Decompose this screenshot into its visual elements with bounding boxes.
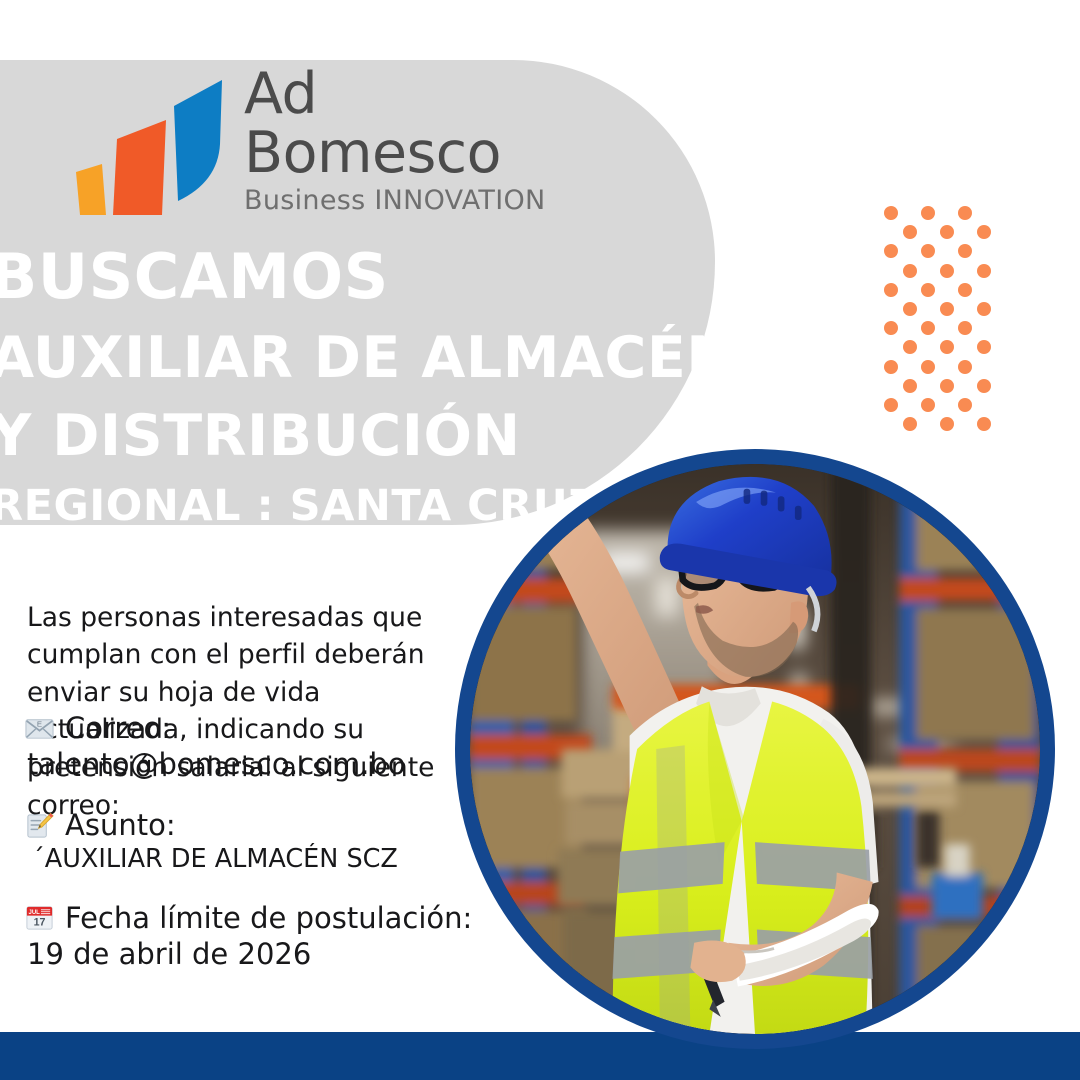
decorative-dot [921, 283, 935, 297]
memo-pencil-icon [24, 810, 55, 841]
decorative-dot [958, 321, 972, 335]
decorative-dot [903, 340, 917, 354]
decorative-dot [921, 398, 935, 412]
decorative-dot [921, 321, 935, 335]
headline-line-position: AUXILIAR DE ALMACÉN [0, 330, 735, 387]
orange-dot-pattern [884, 206, 1014, 456]
worker-photo [470, 464, 1040, 1034]
decorative-dot [884, 206, 898, 220]
decorative-dot [884, 398, 898, 412]
decorative-dot [977, 302, 991, 316]
email-envelope-icon: E [24, 713, 55, 744]
contact-subject-group: Asunto: ´AUXILIAR DE ALMACÉN SCZ [24, 809, 494, 875]
decorative-dot [940, 264, 954, 278]
logo-tagline: Business INNOVATION [244, 187, 546, 214]
worker-photo-circle [455, 449, 1055, 1049]
decorative-dot [921, 206, 935, 220]
decorative-dot [958, 398, 972, 412]
decorative-dot [903, 379, 917, 393]
contact-subject-value: ´AUXILIAR DE ALMACÉN SCZ [24, 845, 494, 874]
decorative-dot [977, 340, 991, 354]
decorative-dot [958, 206, 972, 220]
job-posting-poster: Ad Bomesco Business INNOVATION BUSCAMOS … [0, 0, 1080, 1080]
decorative-dot [977, 264, 991, 278]
decorative-dot [958, 283, 972, 297]
svg-text:E: E [37, 719, 42, 728]
decorative-dot [958, 244, 972, 258]
decorative-dot [977, 379, 991, 393]
decorative-dot [940, 340, 954, 354]
decorative-dot [903, 417, 917, 431]
contact-email-value[interactable]: talento@bomesco.com.bo [24, 748, 494, 781]
logo-bars-icon [62, 72, 232, 222]
bottom-blue-bar [0, 1032, 1080, 1080]
logo-text-line-1: Ad [244, 66, 546, 123]
decorative-dot [921, 244, 935, 258]
decorative-dot [884, 321, 898, 335]
decorative-dot [903, 302, 917, 316]
decorative-dot [884, 360, 898, 374]
contact-email-group: E Correo: talento@bomesco.com.bo [24, 712, 494, 782]
contact-email-label: Correo: [65, 712, 171, 744]
logo-text-line-2: Bomesco [244, 125, 546, 182]
decorative-dot [903, 264, 917, 278]
contact-details: E Correo: talento@bomesco.com.bo Asunto:… [24, 712, 494, 971]
contact-subject-heading: Asunto: [24, 809, 494, 841]
decorative-dot [884, 283, 898, 297]
decorative-dot [940, 379, 954, 393]
headline-line-position-cont: Y DISTRIBUCIÓN [0, 408, 735, 465]
contact-subject-label: Asunto: [65, 809, 176, 841]
headline-line-buscamos: BUSCAMOS [0, 246, 735, 308]
decorative-dot [977, 225, 991, 239]
calendar-icon: JUL 17 [24, 902, 55, 933]
decorative-dot [884, 244, 898, 258]
contact-deadline-group: JUL 17 Fecha límite de postulación: 19 d… [24, 902, 494, 972]
svg-text:17: 17 [34, 917, 46, 929]
decorative-dot [977, 417, 991, 431]
contact-deadline-value: 19 de abril de 2026 [24, 938, 494, 971]
decorative-dot [940, 417, 954, 431]
contact-deadline-label: Fecha límite de postulación: [65, 902, 472, 934]
svg-text:JUL: JUL [29, 910, 41, 916]
decorative-dot [921, 360, 935, 374]
decorative-dot [958, 360, 972, 374]
decorative-dot [903, 225, 917, 239]
contact-deadline-heading: JUL 17 Fecha límite de postulación: [24, 902, 494, 934]
contact-email-heading: E Correo: [24, 712, 494, 744]
decorative-dot [940, 225, 954, 239]
company-logo: Ad Bomesco Business INNOVATION [62, 66, 546, 222]
warehouse-worker-illustration [470, 464, 1040, 1034]
decorative-dot [940, 302, 954, 316]
